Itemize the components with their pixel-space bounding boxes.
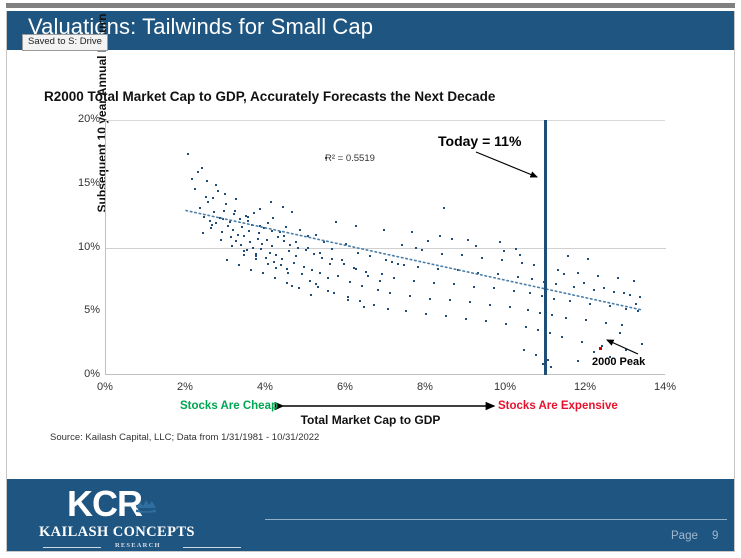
- plot-area: [105, 120, 665, 375]
- page-label: Page: [671, 530, 698, 542]
- kcr-logo: KCR KAILASH CONCEPTS RESEARCH: [25, 485, 260, 547]
- today-annotation: Today = 11%: [438, 133, 521, 149]
- x-tick-label: 2%: [163, 381, 207, 393]
- save-status-tooltip: Saved to S: Drive: [22, 34, 108, 51]
- y-tick-label: 5%: [58, 304, 100, 316]
- footer-divider: [265, 519, 727, 520]
- stocks-expensive-label: Stocks Are Expensive: [498, 400, 618, 412]
- x-tick-label: 4%: [243, 381, 287, 393]
- peak-annotation: 2000 Peak: [592, 356, 645, 368]
- x-tick-label: 12%: [563, 381, 607, 393]
- logo-subtitle-group: RESEARCH: [43, 542, 265, 552]
- y-tick-label: 15%: [58, 177, 100, 189]
- x-tick-label: 10%: [483, 381, 527, 393]
- y-axis-ticks: 0%5%10%15%20%: [55, 120, 100, 375]
- trendline: [106, 120, 666, 375]
- wave-icon: [135, 497, 157, 513]
- logo-rule-right: [183, 547, 241, 548]
- y-tick-label: 20%: [58, 113, 100, 125]
- today-vertical-line: [544, 120, 547, 375]
- source-note: Source: Kailash Capital, LLC; Data from …: [50, 432, 319, 443]
- y-tick-label: 0%: [58, 368, 100, 380]
- slide-footer: KCR KAILASH CONCEPTS RESEARCH Page 9: [7, 479, 734, 551]
- logo-rule-left: [43, 547, 101, 548]
- x-tick-label: 14%: [643, 381, 687, 393]
- r-squared-annotation: R² = 0.5519: [325, 153, 375, 164]
- logo-subtitle: RESEARCH: [115, 542, 161, 549]
- x-axis-ticks: 0%2%4%6%8%10%12%14%: [105, 381, 665, 397]
- x-tick-label: 8%: [403, 381, 447, 393]
- stocks-cheap-label: Stocks Are Cheap: [180, 400, 278, 412]
- page-number: 9: [712, 530, 718, 542]
- x-axis-title: Total Market Cap to GDP: [0, 413, 741, 427]
- r-squared-text: R² = 0.5519: [325, 153, 375, 164]
- logo-mark-text: KCR: [67, 485, 142, 523]
- y-tick-label: 10%: [58, 241, 100, 253]
- chart-title: R2000 Total Market Cap to GDP, Accuratel…: [44, 89, 495, 104]
- x-tick-label: 6%: [323, 381, 367, 393]
- logo-company-name: KAILASH CONCEPTS: [39, 524, 195, 541]
- x-tick-label: 0%: [83, 381, 127, 393]
- presentation-slide: Valuations: Tailwinds for Small Cap Save…: [0, 0, 741, 558]
